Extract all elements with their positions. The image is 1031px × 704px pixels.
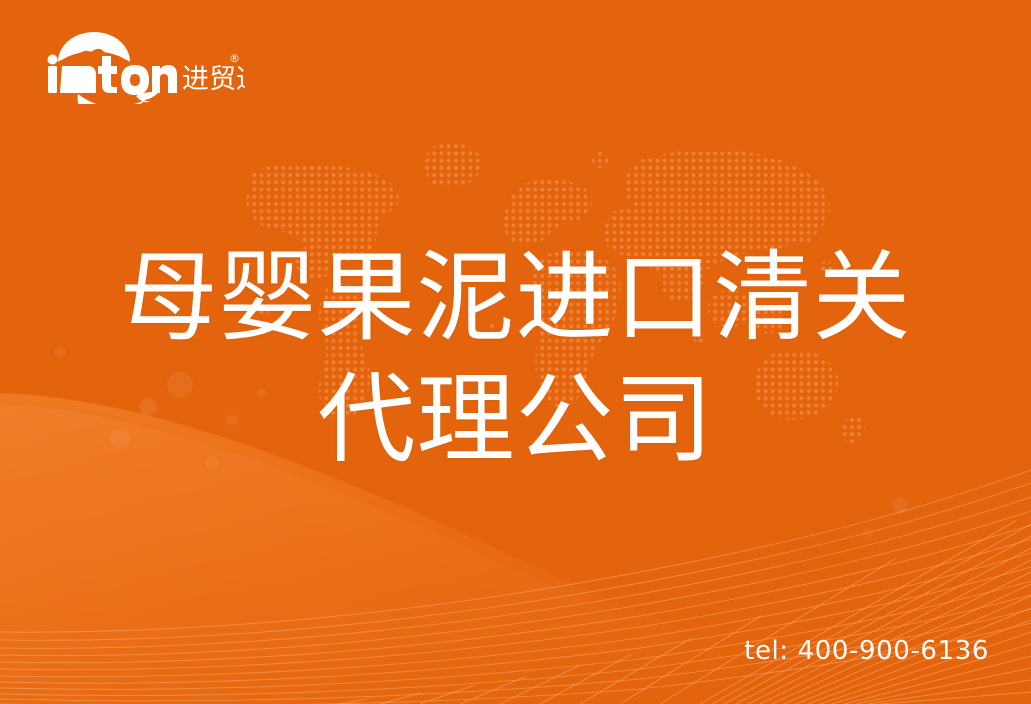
swoosh-icon <box>78 92 158 104</box>
globe-dome-icon <box>58 32 130 66</box>
headline-line-2: 代理公司 <box>0 359 1031 481</box>
logo-artwork: 进贸通 ® <box>40 26 245 104</box>
imton-logo[interactable]: 进贸通 ® <box>40 26 245 104</box>
headline-line-1: 母婴果泥进口清关 <box>0 237 1031 359</box>
logo-chinese-name: 进贸通 <box>182 64 245 95</box>
promo-banner: 进贸通 ® 母婴果泥进口清关 代理公司 tel: 400-900-6136 <box>0 0 1031 704</box>
contact-telephone[interactable]: tel: 400-900-6136 <box>744 636 989 666</box>
registered-trademark-icon: ® <box>229 52 240 65</box>
page-title: 母婴果泥进口清关 代理公司 <box>0 237 1031 481</box>
